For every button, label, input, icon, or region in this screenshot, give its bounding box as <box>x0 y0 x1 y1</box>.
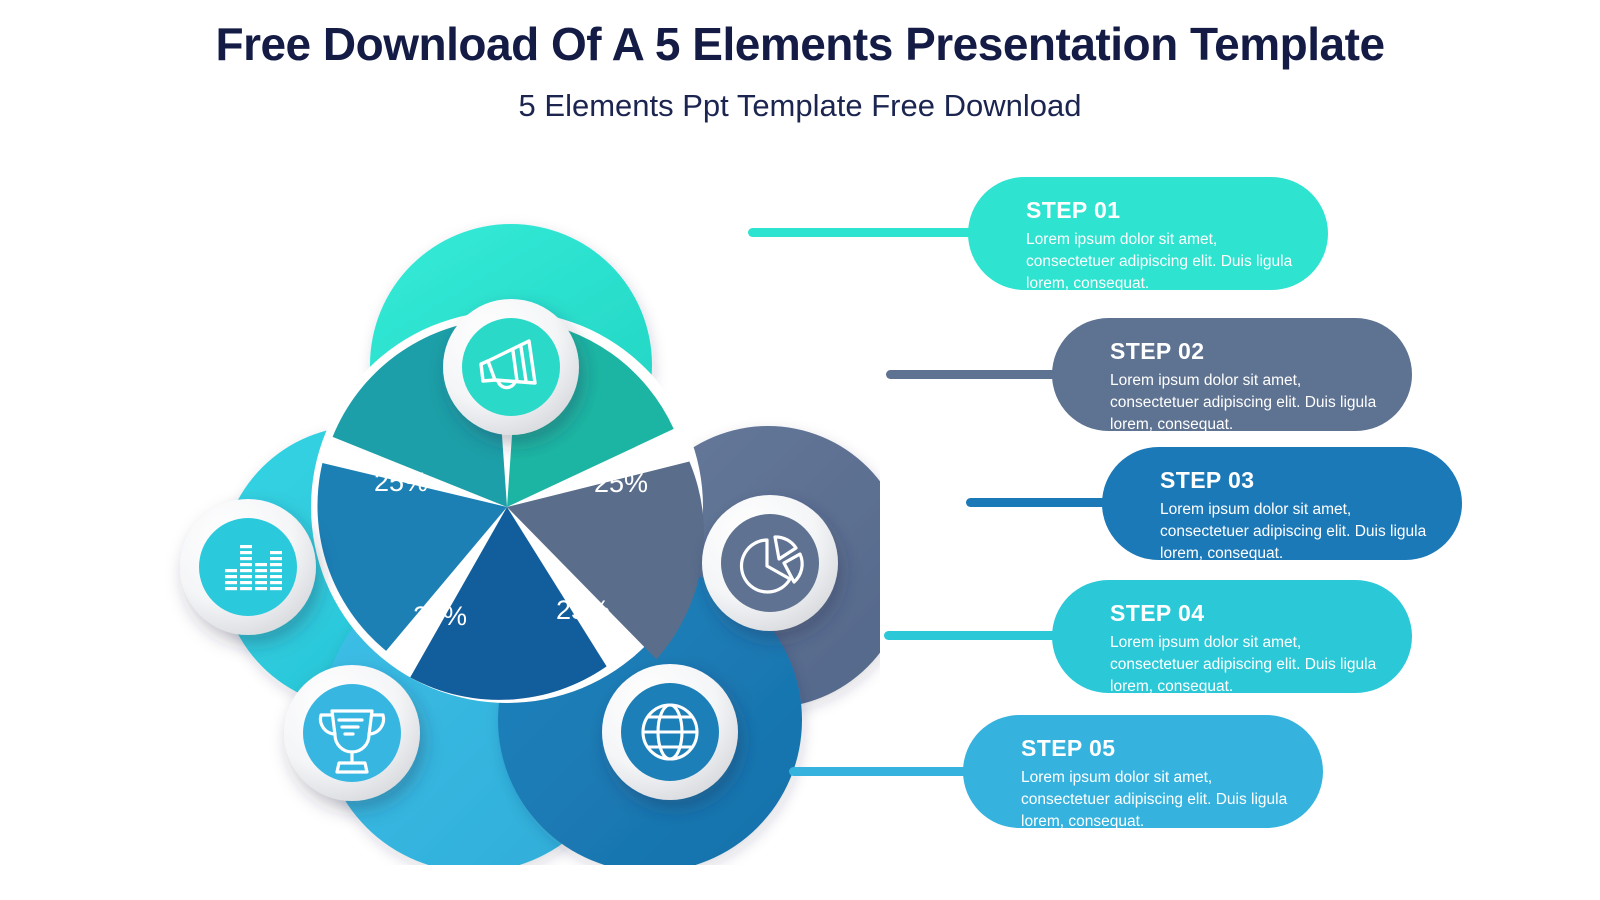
step-description-2: Lorem ipsum dolor sit amet, consectetuer… <box>1110 370 1390 436</box>
icon-badge-top[interactable] <box>443 299 579 435</box>
step-description-4: Lorem ipsum dolor sit amet, consectetuer… <box>1110 632 1390 698</box>
step-label-4: STEP 04 <box>1110 602 1390 625</box>
step-label-1: STEP 01 <box>1026 199 1306 222</box>
pie-label-4: 25% <box>413 601 467 631</box>
pie-label-2: 25% <box>594 468 648 498</box>
step-card-5[interactable]: STEP 05 Lorem ipsum dolor sit amet, cons… <box>963 715 1323 828</box>
pie-label-5: 25% <box>374 467 428 497</box>
step-label-5: STEP 05 <box>1021 737 1301 760</box>
page-header: Free Download Of A 5 Elements Presentati… <box>0 0 1600 123</box>
icon-badge-left[interactable] <box>180 499 316 635</box>
icon-badge-right[interactable] <box>702 495 838 631</box>
five-element-flower-diagram: 25% 25% 25% 25% 25% <box>140 135 880 865</box>
step-description-3: Lorem ipsum dolor sit amet, consectetuer… <box>1160 499 1440 565</box>
step-card-4[interactable]: STEP 04 Lorem ipsum dolor sit amet, cons… <box>1052 580 1412 693</box>
step-card-1[interactable]: STEP 01 Lorem ipsum dolor sit amet, cons… <box>968 177 1328 290</box>
icon-badge-bottom-right[interactable] <box>602 664 738 800</box>
step-description-1: Lorem ipsum dolor sit amet, consectetuer… <box>1026 229 1306 295</box>
step-label-3: STEP 03 <box>1160 469 1440 492</box>
step-card-2[interactable]: STEP 02 Lorem ipsum dolor sit amet, cons… <box>1052 318 1412 431</box>
step-card-3[interactable]: STEP 03 Lorem ipsum dolor sit amet, cons… <box>1102 447 1462 560</box>
step-description-5: Lorem ipsum dolor sit amet, consectetuer… <box>1021 767 1301 833</box>
pie-label-3: 25% <box>556 595 610 625</box>
page-title: Free Download Of A 5 Elements Presentati… <box>0 18 1600 71</box>
page-subtitle: 5 Elements Ppt Template Free Download <box>0 89 1600 123</box>
icon-badge-bottom-left[interactable] <box>284 665 420 801</box>
step-label-2: STEP 02 <box>1110 340 1390 363</box>
connector-line-step-1 <box>748 228 988 237</box>
